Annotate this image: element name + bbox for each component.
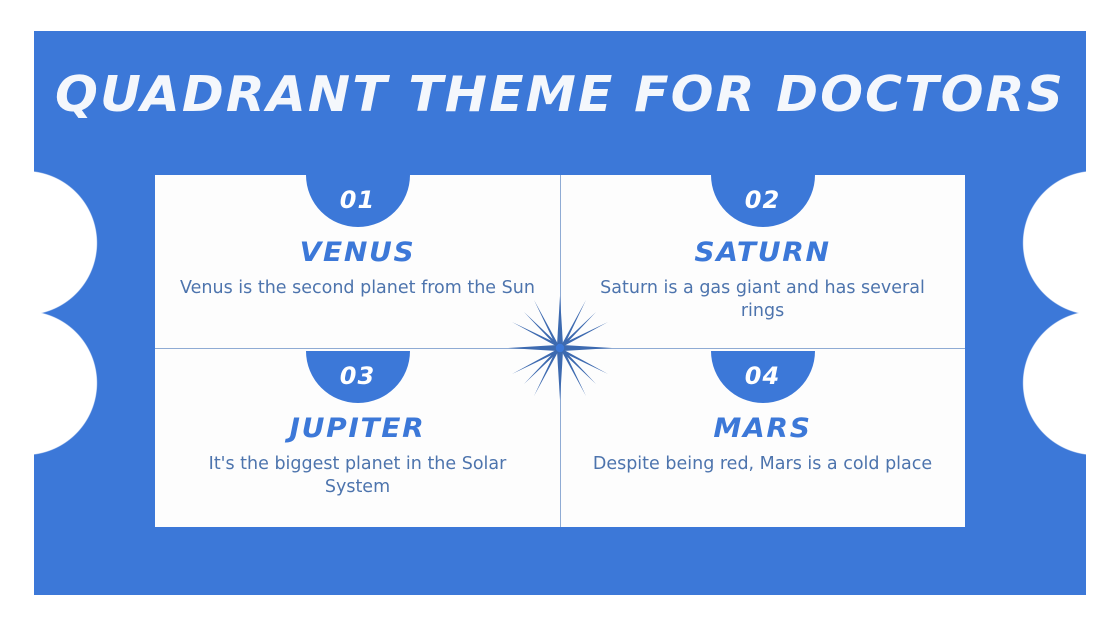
quadrant-number-label: 02	[745, 188, 780, 214]
quadrant-number-badge: 04	[711, 351, 815, 403]
quadrant-heading: MARS	[552, 413, 973, 444]
quadrant-cell-saturn[interactable]: 02 SATURN Saturn is a gas giant and has …	[560, 175, 965, 351]
quadrant-number-label: 04	[745, 364, 780, 390]
quadrant-description: Saturn is a gas giant and has several ri…	[582, 277, 943, 323]
quadrant-description: It's the biggest planet in the Solar Sys…	[177, 453, 538, 499]
quadrant-number-badge: 02	[711, 175, 815, 227]
page-title: QUADRANT THEME FOR DOCTORS	[18, 66, 1102, 123]
quadrant-number-badge: 01	[306, 175, 410, 227]
quadrant-heading: SATURN	[552, 237, 973, 268]
quadrant-heading: VENUS	[147, 237, 568, 268]
quadrant-cell-venus[interactable]: 01 VENUS Venus is the second planet from…	[155, 175, 560, 351]
quadrant-number-badge: 03	[306, 351, 410, 403]
quadrant-description: Despite being red, Mars is a cold place	[582, 453, 943, 476]
quadrant-cell-mars[interactable]: 04 MARS Despite being red, Mars is a col…	[560, 351, 965, 527]
quadrant-card: 01 VENUS Venus is the second planet from…	[155, 175, 965, 527]
quadrant-description: Venus is the second planet from the Sun	[177, 277, 538, 300]
quadrant-cell-jupiter[interactable]: 03 JUPITER It's the biggest planet in th…	[155, 351, 560, 527]
quadrant-heading: JUPITER	[147, 413, 568, 444]
quadrant-number-label: 01	[340, 188, 375, 214]
quadrant-number-label: 03	[340, 364, 375, 390]
